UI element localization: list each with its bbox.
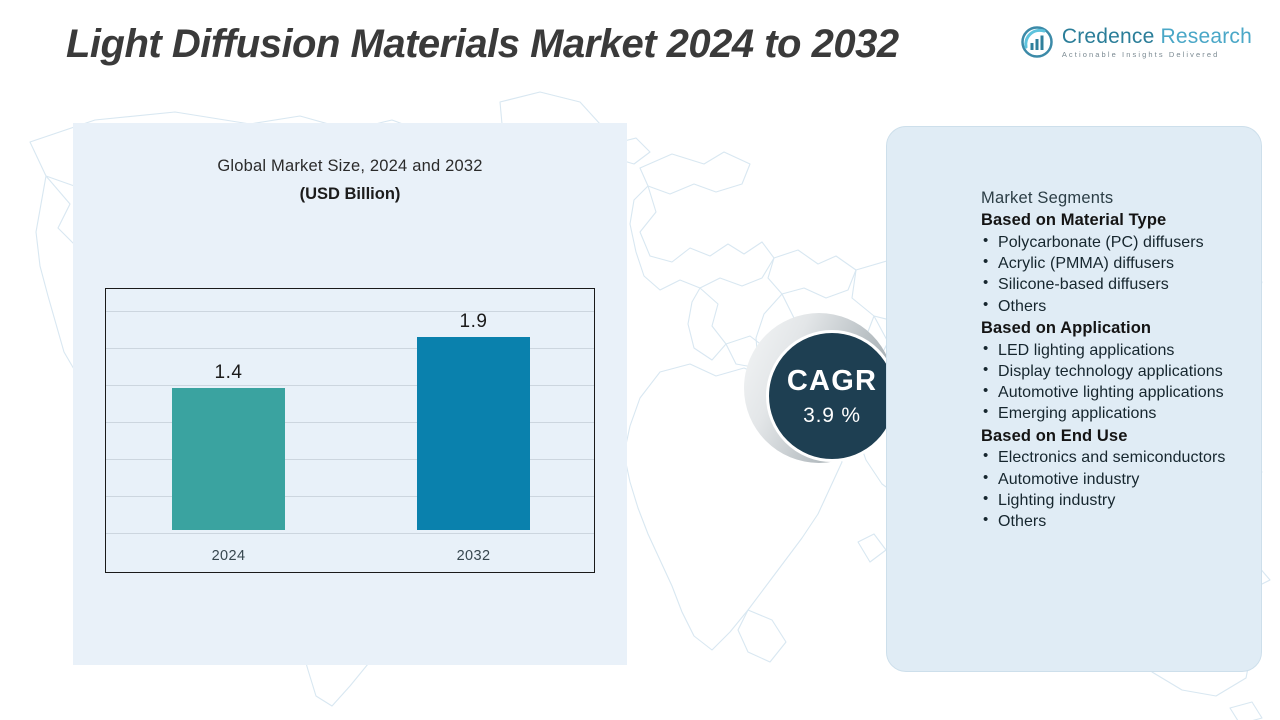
cagr-circle: CAGR 3.9 % [766,330,898,462]
chart-bar [417,337,530,530]
chart-bar-value-label: 1.9 [429,311,519,333]
brand-tagline: Actionable Insights Delivered [1062,51,1252,59]
segment-group-title: Based on Material Type [981,209,1239,232]
chart-bar-value-label: 1.4 [184,362,274,384]
segment-group-title: Based on End Use [981,425,1239,448]
chart-gridline [106,311,594,312]
chart-subheading: (USD Billion) [73,185,627,204]
segment-list-item: Automotive industry [981,469,1239,490]
segment-list-item: Acrylic (PMMA) diffusers [981,253,1239,274]
brand-name: Credence Research [1062,26,1252,47]
segment-list-item: Silicone-based diffusers [981,274,1239,295]
segment-list-item: Lighting industry [981,490,1239,511]
bar-chart-circle-icon [1021,26,1053,58]
chart-category-label: 2024 [179,548,279,564]
chart-panel: Global Market Size, 2024 and 2032 (USD B… [73,123,627,665]
page-title: Light Diffusion Materials Market 2024 to… [66,22,899,67]
segment-group-title: Based on Application [981,317,1239,340]
segment-list-item: Polycarbonate (PC) diffusers [981,232,1239,253]
infographic-canvas: Light Diffusion Materials Market 2024 to… [0,0,1280,720]
cagr-label: CAGR [787,367,877,396]
segment-list-item: Automotive lighting applications [981,382,1239,403]
brand-logo: Credence Research Actionable Insights De… [1021,26,1252,59]
chart-plot-area: 1.420241.92032 [105,288,595,573]
segment-list-item: LED lighting applications [981,340,1239,361]
market-segments-body: Based on Material TypePolycarbonate (PC)… [981,209,1239,532]
market-segments-panel: Market Segments Based on Material TypePo… [886,126,1262,672]
segment-list-item: Others [981,511,1239,532]
chart-gridline [106,533,594,534]
chart-bar [172,388,285,530]
chart-heading: Global Market Size, 2024 and 2032 [73,157,627,176]
brand-name-primary: Credence [1062,25,1155,48]
chart-category-label: 2032 [424,548,524,564]
cagr-value: 3.9 % [803,405,861,426]
segment-list-item: Emerging applications [981,403,1239,424]
market-segments-title: Market Segments [981,189,1239,208]
segment-list-item: Display technology applications [981,361,1239,382]
brand-text: Credence Research Actionable Insights De… [1062,26,1252,59]
segment-list-item: Others [981,296,1239,317]
segment-list-item: Electronics and semiconductors [981,447,1239,468]
brand-name-secondary: Research [1154,25,1252,48]
